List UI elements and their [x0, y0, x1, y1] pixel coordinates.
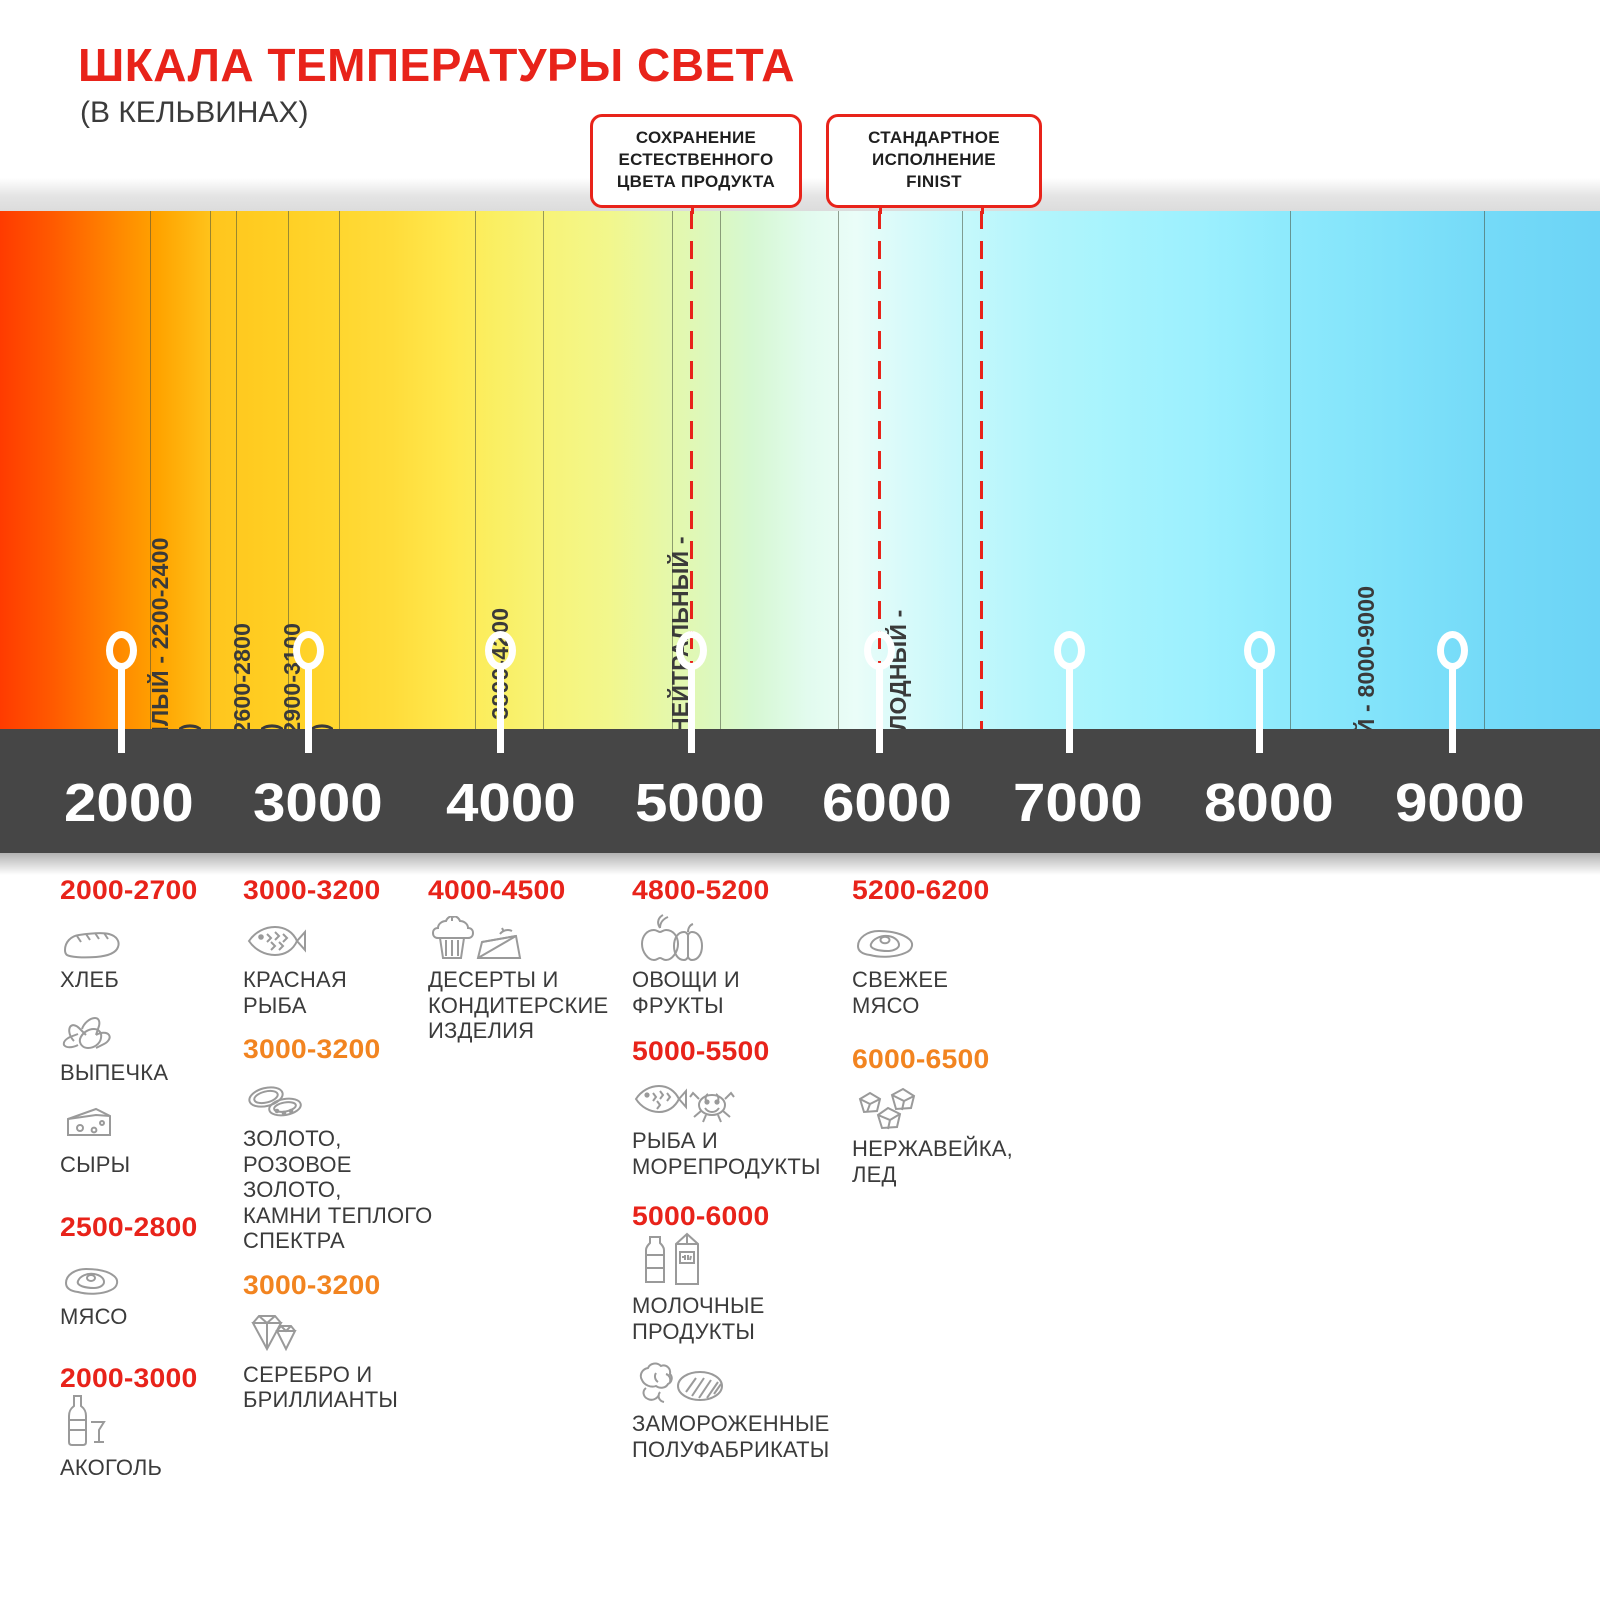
- legend-group: 3000-3200 СЕРЕБРО ИБРИЛЛИАНТЫ: [243, 1270, 433, 1413]
- legend-item: КРАСНАЯРЫБА: [243, 916, 433, 1018]
- legend-column-0: 2000-2700 ХЛЕБ ВЫПЕЧКА СЫРЫ2500-2800 МЯС…: [60, 875, 235, 1497]
- callout-finist-line-2: ИСПОЛНЕНИЕ: [843, 149, 1025, 171]
- callout-natural-color: СОХРАНЕНИЕ ЕСТЕСТВЕННОГО ЦВЕТА ПРОДУКТА: [590, 114, 802, 208]
- callout-natural-line-2: ЕСТЕСТВЕННОГО: [607, 149, 785, 171]
- seafood-icon: [632, 1077, 847, 1123]
- callout-natural-line-3: ЦВЕТА ПРОДУКТА: [607, 171, 785, 193]
- callout-finist-standard: СТАНДАРТНОЕ ИСПОЛНЕНИЕ FINIST: [826, 114, 1042, 208]
- pin-stem: [497, 665, 504, 753]
- segment-divider: [962, 211, 963, 729]
- legend-group: 2500-2800 МЯСО: [60, 1212, 235, 1330]
- scale-tick-4000: 4000: [446, 772, 576, 834]
- page-title: ШКАЛА ТЕМПЕРАТУРЫ СВЕТА: [78, 38, 795, 92]
- steak-icon: [60, 1253, 235, 1299]
- legend-item: МЯСО: [60, 1253, 235, 1330]
- scale-dark-bar: [0, 729, 1600, 853]
- zone-label-warm-2700: ТЕПЛЫЙ - 2600-2800: [229, 623, 256, 729]
- legend-item-label: МОЛОЧНЫЕ ПРОДУКТЫ: [632, 1293, 847, 1344]
- spectrum-bar: СУПЕР ТЕПЛЫЙ - 2200-2400 (тип К 2400) ТЕ…: [0, 211, 1600, 729]
- segment-divider: [543, 211, 544, 729]
- segment-divider: [838, 211, 839, 729]
- segment-divider: [210, 211, 211, 729]
- cheese-icon: [60, 1101, 235, 1147]
- legend-item: ЗОЛОТО,РОЗОВОЕ ЗОЛОТО,КАМНИ ТЕПЛОГОСПЕКТ…: [243, 1075, 433, 1254]
- legend-item-label: СЕРЕБРО ИБРИЛЛИАНТЫ: [243, 1362, 433, 1413]
- rings-icon: [243, 1075, 433, 1121]
- pin-stem: [118, 665, 125, 753]
- segment-divider: [720, 211, 721, 729]
- legend-range-label: 2000-3000: [60, 1363, 197, 1394]
- pin-stem: [1256, 665, 1263, 753]
- legend-item: ДЕСЕРТЫ ИКОНДИТЕРСКИЕИЗДЕЛИЯ: [428, 916, 628, 1044]
- zone-label-super-warm: СУПЕР ТЕПЛЫЙ - 2200-2400: [147, 537, 174, 729]
- fresh-meat-icon: [852, 916, 1037, 962]
- legend-item-label: ХЛЕБ: [60, 967, 235, 993]
- segment-divider: [1484, 211, 1485, 729]
- milk-icon: [632, 1242, 847, 1288]
- croissant-icon: [60, 1009, 235, 1055]
- pin-stem: [1449, 665, 1456, 753]
- legend-area: 2000-2700 ХЛЕБ ВЫПЕЧКА СЫРЫ2500-2800 МЯС…: [0, 875, 1600, 1600]
- scale-tick-2000: 2000: [64, 772, 194, 834]
- callout-natural-line-1: СОХРАНЕНИЕ: [607, 127, 785, 149]
- legend-range-label: 2000-2700: [60, 875, 197, 906]
- legend-range-label: 2500-2800: [60, 1212, 197, 1243]
- segment-divider: [475, 211, 476, 729]
- legend-range-label: 6000-6500: [852, 1044, 989, 1075]
- zone-label-white-cold: БЕЛЫЙ ХОЛОДНЫЙ -: [885, 609, 912, 729]
- legend-item: СЕРЕБРО ИБРИЛЛИАНТЫ: [243, 1311, 433, 1413]
- legend-column-3: 4800-5200 ОВОЩИ ИФРУКТЫ5000-5500 РЫБА ИМ…: [632, 875, 847, 1478]
- legend-range-label: 5000-6000: [632, 1201, 769, 1232]
- legend-column-4: 5200-6200 СВЕЖЕЕМЯСО6000-6500 НЕРЖАВЕЙКА…: [852, 875, 1037, 1203]
- callout-finist-line-3: FINIST: [843, 171, 1025, 193]
- legend-group: 4800-5200 ОВОЩИ ИФРУКТЫ: [632, 875, 847, 1018]
- legend-column-1: 3000-3200 КРАСНАЯРЫБА3000-3200 ЗОЛОТО,РО…: [243, 875, 433, 1429]
- legend-column-2: 4000-4500 ДЕСЕРТЫ ИКОНДИТЕРСКИЕИЗДЕЛИЯ: [428, 875, 628, 1060]
- scale-bar-shadow: [0, 853, 1600, 875]
- legend-group: 6000-6500 НЕРЖАВЕЙКА,ЛЕД: [852, 1044, 1037, 1187]
- segment-divider: [1290, 211, 1291, 729]
- legend-item-label: СЫРЫ: [60, 1152, 235, 1178]
- legend-group: 4000-4500 ДЕСЕРТЫ ИКОНДИТЕРСКИЕИЗДЕЛИЯ: [428, 875, 628, 1044]
- page-subtitle: (В КЕЛЬВИНАХ): [80, 96, 308, 130]
- legend-item-label: АКОГОЛЬ: [60, 1455, 235, 1481]
- legend-item: СЫРЫ: [60, 1101, 235, 1178]
- zone-label-cold: ХОЛОДНЫЙ - 8000-9000: [1353, 586, 1380, 729]
- legend-item-label: ДЕСЕРТЫ ИКОНДИТЕРСКИЕИЗДЕЛИЯ: [428, 967, 628, 1044]
- legend-item-label: ВЫПЕЧКА: [60, 1060, 235, 1086]
- legend-item-label: РЫБА ИМОРЕПРОДУКТЫ: [632, 1128, 847, 1179]
- pin-stem: [688, 665, 695, 753]
- legend-item: НЕРЖАВЕЙКА,ЛЕД: [852, 1085, 1037, 1187]
- fruits-vegetables-icon: [632, 916, 847, 962]
- fish-icon: [243, 916, 433, 962]
- legend-group: 5000-5500 РЫБА ИМОРЕПРОДУКТЫ: [632, 1036, 847, 1179]
- legend-group: 3000-3200 КРАСНАЯРЫБА: [243, 875, 433, 1018]
- legend-item-label: НЕРЖАВЕЙКА,ЛЕД: [852, 1136, 1037, 1187]
- legend-group: 2000-3000 АКОГОЛЬ: [60, 1363, 235, 1481]
- pin-stem: [305, 665, 312, 753]
- dessert-icon: [428, 916, 628, 962]
- legend-group: 5000-6000 МОЛОЧНЫЕ ПРОДУКТЫ ЗАМОРОЖЕННЫЕ…: [632, 1201, 847, 1462]
- legend-item: МОЛОЧНЫЕ ПРОДУКТЫ: [632, 1242, 847, 1344]
- legend-item-label: СВЕЖЕЕМЯСО: [852, 967, 1037, 1018]
- legend-group: 5200-6200 СВЕЖЕЕМЯСО: [852, 875, 1037, 1018]
- dashed-marker-finist-end: [980, 211, 983, 729]
- legend-item-label: ЗАМОРОЖЕННЫЕПОЛУФАБРИКАТЫ: [632, 1411, 847, 1462]
- legend-range-label: 4000-4500: [428, 875, 565, 906]
- scale-tick-7000: 7000: [1013, 772, 1143, 834]
- legend-item-label: ОВОЩИ ИФРУКТЫ: [632, 967, 847, 1018]
- legend-item: СВЕЖЕЕМЯСО: [852, 916, 1037, 1018]
- legend-item: АКОГОЛЬ: [60, 1404, 235, 1481]
- frozen-food-icon: [632, 1360, 847, 1406]
- legend-group: 3000-3200 ЗОЛОТО,РОЗОВОЕ ЗОЛОТО,КАМНИ ТЕ…: [243, 1034, 433, 1254]
- pin-stem: [1066, 665, 1073, 753]
- diamond-icon: [243, 1311, 433, 1357]
- scale-tick-9000: 9000: [1395, 772, 1525, 834]
- legend-item: ОВОЩИ ИФРУКТЫ: [632, 916, 847, 1018]
- legend-range-label: 3000-3200: [243, 1270, 380, 1301]
- legend-range-label: 3000-3200: [243, 1034, 380, 1065]
- scale-tick-5000: 5000: [635, 772, 765, 834]
- segment-divider: [339, 211, 340, 729]
- legend-item: РЫБА ИМОРЕПРОДУКТЫ: [632, 1077, 847, 1179]
- legend-item-label: МЯСО: [60, 1304, 235, 1330]
- legend-range-label: 5200-6200: [852, 875, 989, 906]
- legend-range-label: 4800-5200: [632, 875, 769, 906]
- legend-item-label: ЗОЛОТО,РОЗОВОЕ ЗОЛОТО,КАМНИ ТЕПЛОГОСПЕКТ…: [243, 1126, 433, 1254]
- scale-tick-6000: 6000: [822, 772, 952, 834]
- legend-range-label: 3000-3200: [243, 875, 380, 906]
- pin-stem: [876, 665, 883, 753]
- legend-group: 2000-2700 ХЛЕБ ВЫПЕЧКА СЫРЫ: [60, 875, 235, 1178]
- legend-item: ВЫПЕЧКА: [60, 1009, 235, 1086]
- scale-tick-8000: 8000: [1204, 772, 1334, 834]
- alcohol-icon: [60, 1404, 235, 1450]
- legend-item: ЗАМОРОЖЕННЫЕПОЛУФАБРИКАТЫ: [632, 1360, 847, 1462]
- ice-cubes-icon: [852, 1085, 1037, 1131]
- legend-range-label: 5000-5500: [632, 1036, 769, 1067]
- bread-icon: [60, 916, 235, 962]
- legend-item: ХЛЕБ: [60, 916, 235, 993]
- scale-tick-3000: 3000: [253, 772, 383, 834]
- callout-finist-line-1: СТАНДАРТНОЕ: [843, 127, 1025, 149]
- legend-item-label: КРАСНАЯРЫБА: [243, 967, 433, 1018]
